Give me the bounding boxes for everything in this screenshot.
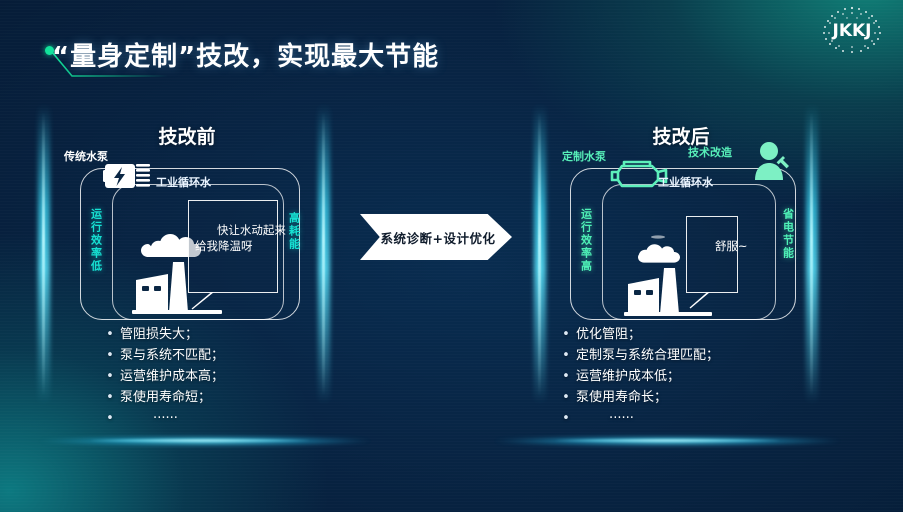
list-item: • 泵与系统不匹配； — [100, 345, 224, 366]
bullet-text: 泵使用寿命短； — [120, 387, 211, 408]
slide-canvas: JKKJ “量身定制”技改，实现最大节能 技改前 — [0, 0, 903, 512]
after-tech-label: 技术改造 — [688, 144, 732, 160]
glow-strip-left-core — [42, 112, 45, 396]
bullet-marker: • — [100, 324, 120, 345]
before-water-label: 工业循环水 — [156, 174, 211, 190]
process-arrow: 系统诊断+设计优化 — [360, 214, 512, 260]
bullet-text: 管阻损失大； — [120, 324, 198, 345]
list-item: • 运营维护成本高； — [100, 366, 224, 387]
glow-bar-right — [495, 436, 840, 446]
after-bullet-list: • 优化管阻； • 定制泵与系统合理匹配； • 运营维护成本低； • 泵使用寿命… — [556, 324, 719, 429]
list-item: • ······ — [556, 408, 719, 429]
list-item: • 管阻损失大； — [100, 324, 224, 345]
before-bubble-text: 快让水动起来 给我降温呀 — [195, 223, 286, 254]
page-title-group: “量身定制”技改，实现最大节能 — [52, 36, 439, 73]
after-water-label: 工业循环水 — [658, 174, 713, 190]
bullet-text: 优化管阻； — [576, 324, 641, 345]
panel-before-heading: 技改前 — [48, 122, 326, 149]
technician-icon — [752, 140, 794, 180]
list-item: • 运营维护成本低； — [556, 366, 719, 387]
bullet-marker: • — [100, 408, 120, 429]
glow-bar-right-core — [555, 439, 780, 442]
after-speech-bubble: 舒服~ — [686, 216, 738, 293]
panel-after: 技改后 定制水泵 工业循环水 技术改造 运行效率高 省电节能 — [540, 112, 822, 422]
arrow-label: 系统诊断+设计优化 — [360, 214, 512, 260]
bullet-text: 泵与系统不匹配； — [120, 345, 224, 366]
bullet-marker: • — [100, 366, 120, 387]
bullet-text: ······ — [120, 408, 178, 429]
bubble-tail-icon — [689, 292, 715, 310]
before-speech-bubble: 快让水动起来 给我降温呀 — [188, 200, 278, 293]
bullet-marker: • — [556, 408, 576, 429]
after-bubble-text: 舒服~ — [715, 239, 748, 253]
panel-before: 技改前 传统水泵 工业循环水 运行效率低 高耗能 — [48, 112, 326, 422]
bullet-marker: • — [556, 324, 576, 345]
bullet-text: 运营维护成本高； — [120, 366, 224, 387]
glow-bar-left — [40, 436, 370, 446]
after-pump-label: 定制水泵 — [562, 148, 606, 164]
list-item: • ······ — [100, 408, 224, 429]
brand-logo: JKKJ — [811, 2, 893, 58]
bullet-marker: • — [556, 387, 576, 408]
bubble-tail-icon — [191, 292, 217, 310]
before-bullet-list: • 管阻损失大； • 泵与系统不匹配； • 运营维护成本高； • 泵使用寿命短；… — [100, 324, 224, 429]
bullet-text: 定制泵与系统合理匹配； — [576, 345, 719, 366]
page-title: “量身定制”技改，实现最大节能 — [52, 36, 439, 73]
bullet-text: 运营维护成本低； — [576, 366, 680, 387]
list-item: • 泵使用寿命短； — [100, 387, 224, 408]
bullet-marker: • — [556, 366, 576, 387]
bullet-marker: • — [100, 387, 120, 408]
logo-text: JKKJ — [832, 21, 872, 41]
after-left-vlabel: 运行效率高 — [580, 208, 592, 273]
glow-bar-left-core — [90, 439, 310, 442]
before-pump-label: 传统水泵 — [64, 148, 108, 164]
bullet-marker: • — [556, 345, 576, 366]
after-right-vlabel: 省电节能 — [782, 208, 794, 260]
list-item: • 定制泵与系统合理匹配； — [556, 345, 719, 366]
bullet-text: 泵使用寿命长； — [576, 387, 667, 408]
bullet-marker: • — [100, 345, 120, 366]
before-left-vlabel: 运行效率低 — [90, 208, 102, 273]
list-item: • 泵使用寿命长； — [556, 387, 719, 408]
list-item: • 优化管阻； — [556, 324, 719, 345]
bullet-text: ······ — [576, 408, 634, 429]
electric-motor-icon — [103, 159, 155, 193]
before-right-vlabel: 高耗能 — [288, 212, 300, 251]
